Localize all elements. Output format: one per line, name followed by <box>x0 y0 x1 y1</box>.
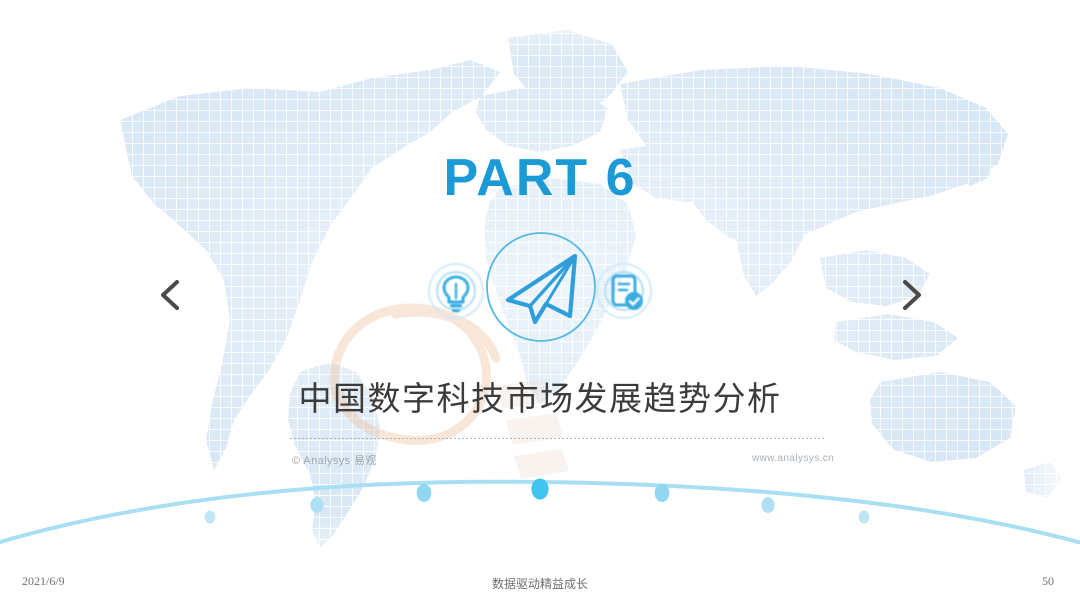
slide-canvas: PART 6 <box>0 0 1080 608</box>
chevron-left-icon <box>148 272 194 318</box>
progress-dot[interactable] <box>761 497 774 513</box>
dotted-divider <box>290 438 826 439</box>
next-slide-button[interactable] <box>888 272 934 318</box>
prev-slide-button[interactable] <box>148 272 194 318</box>
chevron-right-icon <box>888 272 934 318</box>
page-title: 中国数字科技市场发展趋势分析 <box>0 372 1080 420</box>
progress-dot-group <box>205 479 870 524</box>
progress-dot[interactable] <box>417 484 432 502</box>
icon-cluster <box>425 228 655 353</box>
copyright-text: © Analysys 易观 <box>292 452 377 468</box>
document-check-icon <box>593 260 655 322</box>
progress-dot[interactable] <box>655 484 670 502</box>
progress-dot[interactable] <box>310 497 323 513</box>
progress-dot[interactable] <box>859 511 870 524</box>
progress-arc <box>0 462 1080 552</box>
progress-dot[interactable] <box>205 511 216 524</box>
footer-slogan: 数据驱动精益成长 <box>0 575 1080 592</box>
progress-dot-active[interactable] <box>531 479 548 500</box>
lightbulb-icon <box>425 260 487 322</box>
footer-page-number: 50 <box>1042 574 1054 589</box>
website-url[interactable]: www.analysys.cn <box>752 453 834 464</box>
part-title: PART 6 <box>0 148 1080 208</box>
arc-line <box>0 482 1080 548</box>
paper-plane-icon <box>482 228 600 346</box>
